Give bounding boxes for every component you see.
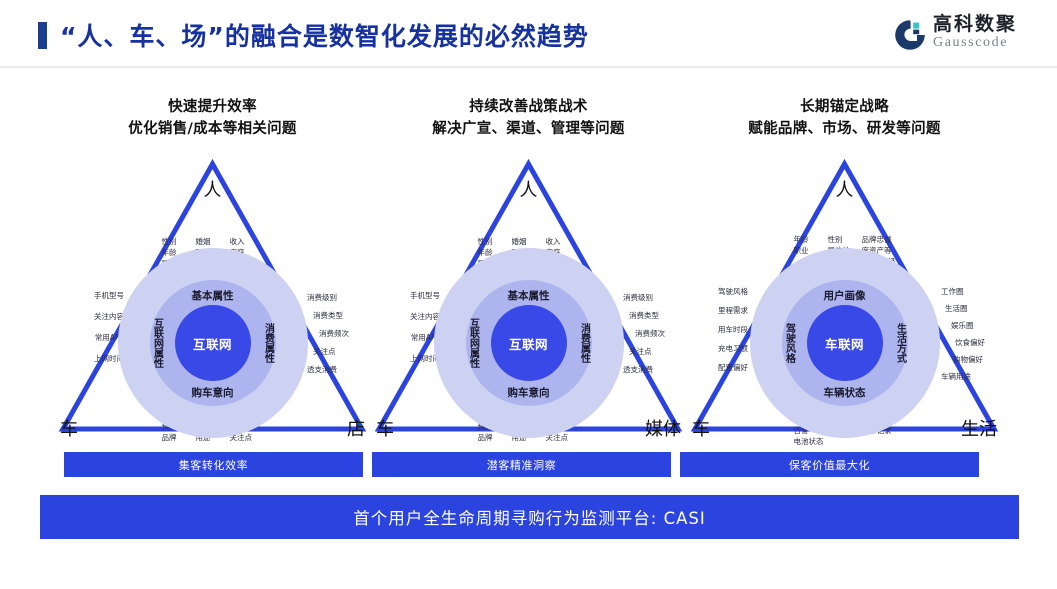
ring-label-top: 用户画像 (750, 288, 940, 303)
column-heading-line1: 持续改善战策战术 (372, 96, 685, 118)
page-title: “人、车、场”的融合是数智化发展的必然趋势 (60, 17, 589, 53)
column-heading-line2: 解决广宣、渠道、管理等问题 (372, 118, 685, 140)
sub-bar-label: 保客价值最大化 (789, 457, 870, 473)
slide-header: “人、车、场”的融合是数智化发展的必然趋势 高科数聚 Gausscode (0, 0, 1057, 68)
column-group-2: 持续改善战策战术 解决广宣、渠道、管理等问题 人 车 媒体 性别婚姻收入 年龄职… (372, 96, 685, 456)
column-heading-line1: 快速提升效率 (56, 96, 369, 118)
triangle-corner-right: 生活 (961, 415, 997, 441)
satellite-labels-right: 工作圈 生活圈 娱乐圈 饮食偏好 购物偏好 车辆用途 (941, 286, 985, 382)
logo-text-en: Gausscode (933, 35, 1039, 51)
title-bullet-icon (38, 22, 47, 49)
ring-core: 车联网 (807, 305, 883, 381)
logo-text-cn: 高科数聚 (933, 14, 1039, 35)
column-heading-line1: 长期锚定战略 (688, 96, 1001, 118)
satellite-labels-left: 驾驶风格 里程需求 用车时段 充电习惯 配置偏好 (710, 286, 748, 373)
ring-label-bottom: 购车意向 (434, 385, 624, 400)
triangle-corner-top: 人 (520, 176, 538, 202)
triangle-corner-left: 车 (692, 415, 710, 441)
ring-core-label: 互联网 (193, 334, 232, 353)
ring-core: 互联网 (175, 305, 251, 381)
concentric-rings: 基本属性 购车意向 互联网属性 消费属性 互联网 (118, 248, 308, 438)
ring-label-left: 互联网属性 (468, 318, 479, 368)
brand-logo: 高科数聚 Gausscode (893, 14, 1039, 58)
ring-label-right: 消费属性 (263, 323, 274, 363)
column-heading: 快速提升效率 优化销售/成本等相关问题 (56, 96, 369, 140)
triangle-corner-top: 人 (836, 176, 854, 202)
triangle-corner-right: 媒体 (645, 415, 681, 441)
sub-bar-label: 潜客精准洞察 (487, 457, 557, 473)
concentric-rings: 用户画像 车辆状态 驾驶风格 生活方式 车联网 (750, 248, 940, 438)
triangle-diagram: 人 车 店 性别婚姻收入 年龄职业家庭 居住地 手机型号 关注内容 常用APP … (56, 152, 369, 447)
sub-bar-2: 潜客精准洞察 (372, 452, 671, 477)
ring-label-left: 驾驶风格 (784, 323, 795, 363)
column-heading: 持续改善战策战术 解决广宣、渠道、管理等问题 (372, 96, 685, 140)
triangle-corner-top: 人 (204, 176, 222, 202)
column-group-1: 快速提升效率 优化销售/成本等相关问题 人 车 店 性别婚姻收入 年龄职业家庭 … (56, 96, 369, 456)
concentric-rings: 基本属性 购车意向 互联网属性 消费属性 互联网 (434, 248, 624, 438)
sub-bar-3: 保客价值最大化 (680, 452, 979, 477)
triangle-corner-right: 店 (347, 415, 365, 441)
ring-core: 互联网 (491, 305, 567, 381)
triangle-corner-left: 车 (60, 415, 78, 441)
ring-core-label: 互联网 (509, 334, 548, 353)
satellite-labels-right: 消费级别 消费类型 消费频次 关注点 透支消费 (623, 292, 665, 375)
ring-label-top: 基本属性 (434, 288, 624, 303)
ring-label-bottom: 购车意向 (118, 385, 308, 400)
column-heading: 长期锚定战略 赋能品牌、市场、研发等问题 (688, 96, 1001, 140)
ring-label-right: 消费属性 (579, 323, 590, 363)
gausscode-g-logo-icon (893, 18, 927, 52)
triangle-diagram: 人 车 生活 年龄性别品牌忠诚 职业居住地度资产等 级 驾驶风格 里程需求 用车… (688, 152, 1001, 447)
sub-bar-label: 集客转化效率 (179, 457, 249, 473)
ring-core-label: 车联网 (825, 334, 864, 353)
column-heading-line2: 优化销售/成本等相关问题 (56, 118, 369, 140)
sub-bar-1: 集客转化效率 (64, 452, 363, 477)
triangle-corner-left: 车 (376, 415, 394, 441)
ring-label-bottom: 车辆状态 (750, 385, 940, 400)
platform-banner: 首个用户全生命周期寻购行为监测平台: CASI (40, 495, 1019, 539)
logo-text: 高科数聚 Gausscode (933, 14, 1039, 51)
column-heading-line2: 赋能品牌、市场、研发等问题 (688, 118, 1001, 140)
triangle-diagram: 人 车 媒体 性别婚姻收入 年龄职业家庭 居住地 手机型号 关注内容 常用APP… (372, 152, 685, 447)
satellite-labels-right: 消费级别 消费类型 消费频次 关注点 透支消费 (307, 292, 349, 375)
ring-label-right: 生活方式 (895, 323, 906, 363)
ring-label-left: 互联网属性 (152, 318, 163, 368)
platform-banner-label: 首个用户全生命周期寻购行为监测平台: CASI (353, 505, 705, 529)
ring-label-top: 基本属性 (118, 288, 308, 303)
header-divider (0, 66, 1057, 68)
column-group-3: 长期锚定战略 赋能品牌、市场、研发等问题 人 车 生活 年龄性别品牌忠诚 职业居… (688, 96, 1001, 456)
